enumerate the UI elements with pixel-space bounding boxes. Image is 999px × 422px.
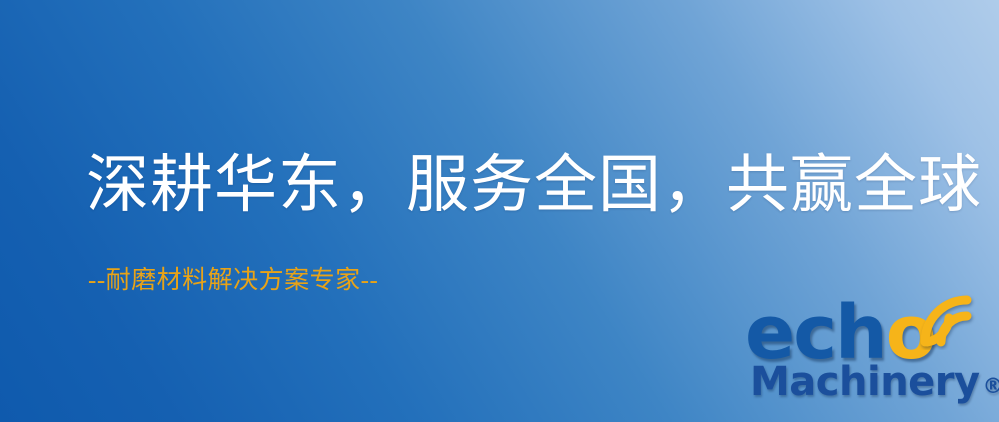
logo-subtext: Machinery® <box>750 362 999 402</box>
promo-banner: 深耕华东，服务全国，共赢全球 --耐磨材料解决方案专家-- echo Machi… <box>0 0 999 422</box>
logo-subtext-label: Machinery <box>750 359 980 405</box>
banner-subtitle: --耐磨材料解决方案专家-- <box>88 266 378 296</box>
echo-machinery-logo: echo Machinery® <box>745 296 995 418</box>
banner-headline: 深耕华东，服务全国，共赢全球 <box>86 152 982 218</box>
registered-trademark-icon: ® <box>983 374 999 398</box>
